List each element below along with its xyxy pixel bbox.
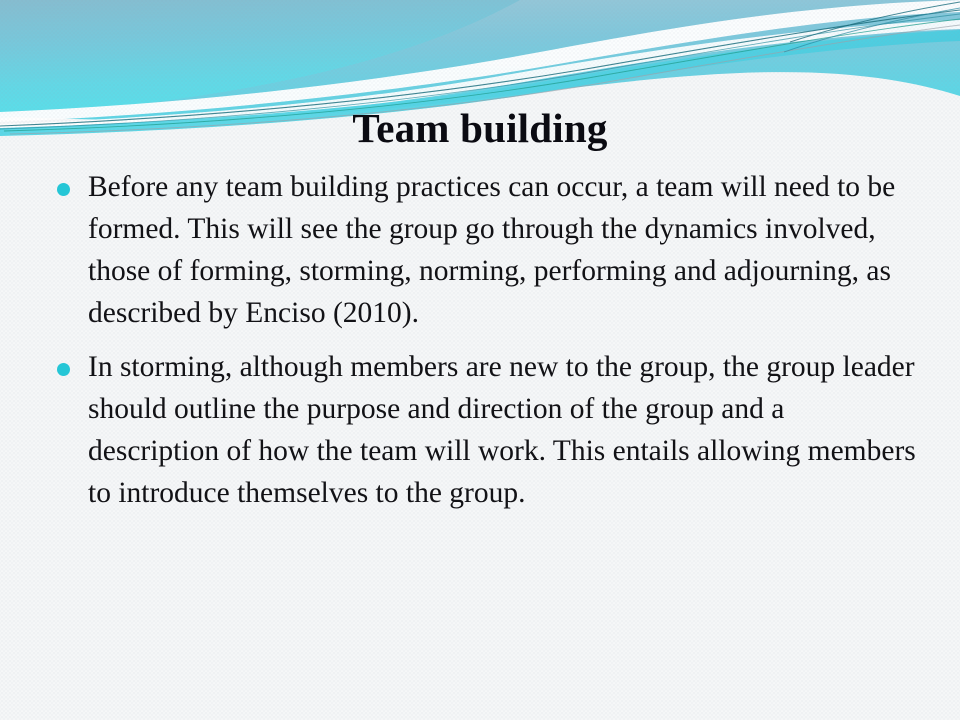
bullet-dot-icon <box>57 363 70 376</box>
list-item-text: In storming, although members are new to… <box>88 346 920 514</box>
list-item: Before any team building practices can o… <box>48 166 920 334</box>
bullet-list: Before any team building practices can o… <box>48 166 920 526</box>
list-item-text: Before any team building practices can o… <box>88 166 920 334</box>
slide-content: Team building Before any team building p… <box>0 0 960 720</box>
page-title: Team building <box>0 104 960 152</box>
presentation-slide: Team building Before any team building p… <box>0 0 960 720</box>
list-item: In storming, although members are new to… <box>48 346 920 514</box>
bullet-dot-icon <box>57 183 70 196</box>
